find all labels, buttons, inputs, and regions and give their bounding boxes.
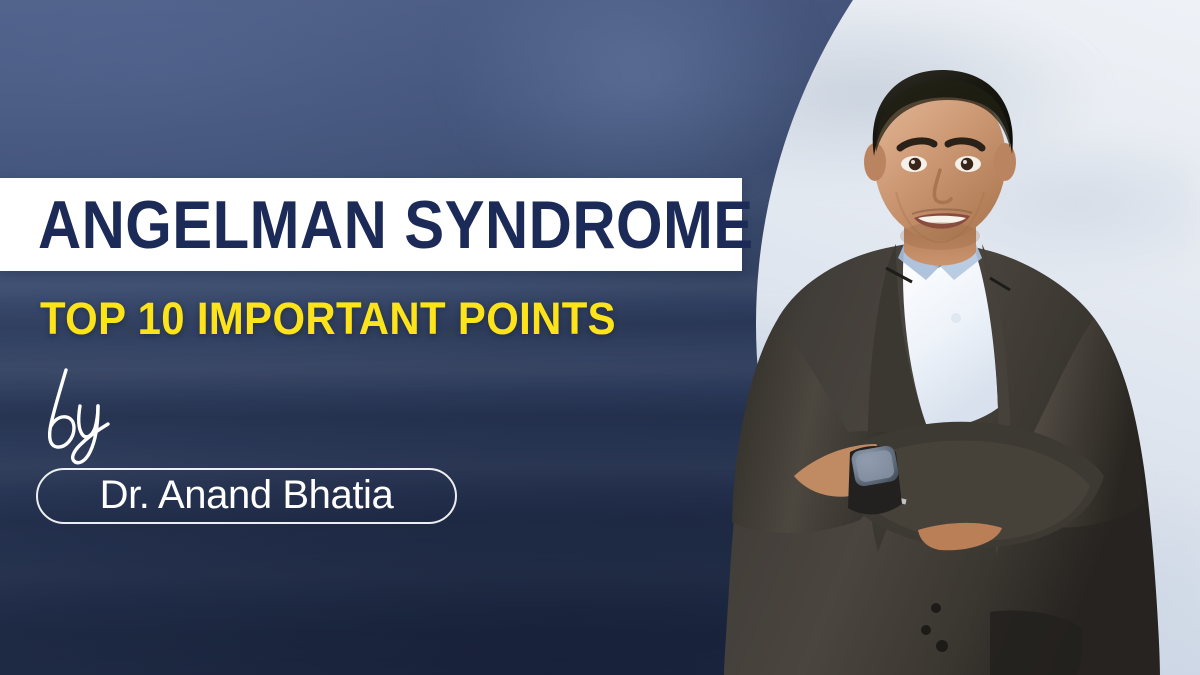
page-title: ANGELMAN SYNDROME [38, 191, 754, 259]
title-band: ANGELMAN SYNDROME [0, 178, 742, 271]
head-and-neck [864, 70, 1016, 266]
smartwatch [848, 444, 902, 514]
byline-script [36, 368, 146, 466]
page-subtitle: TOP 10 IMPORTANT POINTS [40, 296, 616, 341]
presenter-name: Dr. Anand Bhatia [100, 475, 394, 518]
promo-banner: ANGELMAN SYNDROME TOP 10 IMPORTANT POINT… [0, 0, 1200, 675]
presenter-portrait [690, 52, 1200, 675]
presenter-name-pill: Dr. Anand Bhatia [36, 468, 457, 524]
